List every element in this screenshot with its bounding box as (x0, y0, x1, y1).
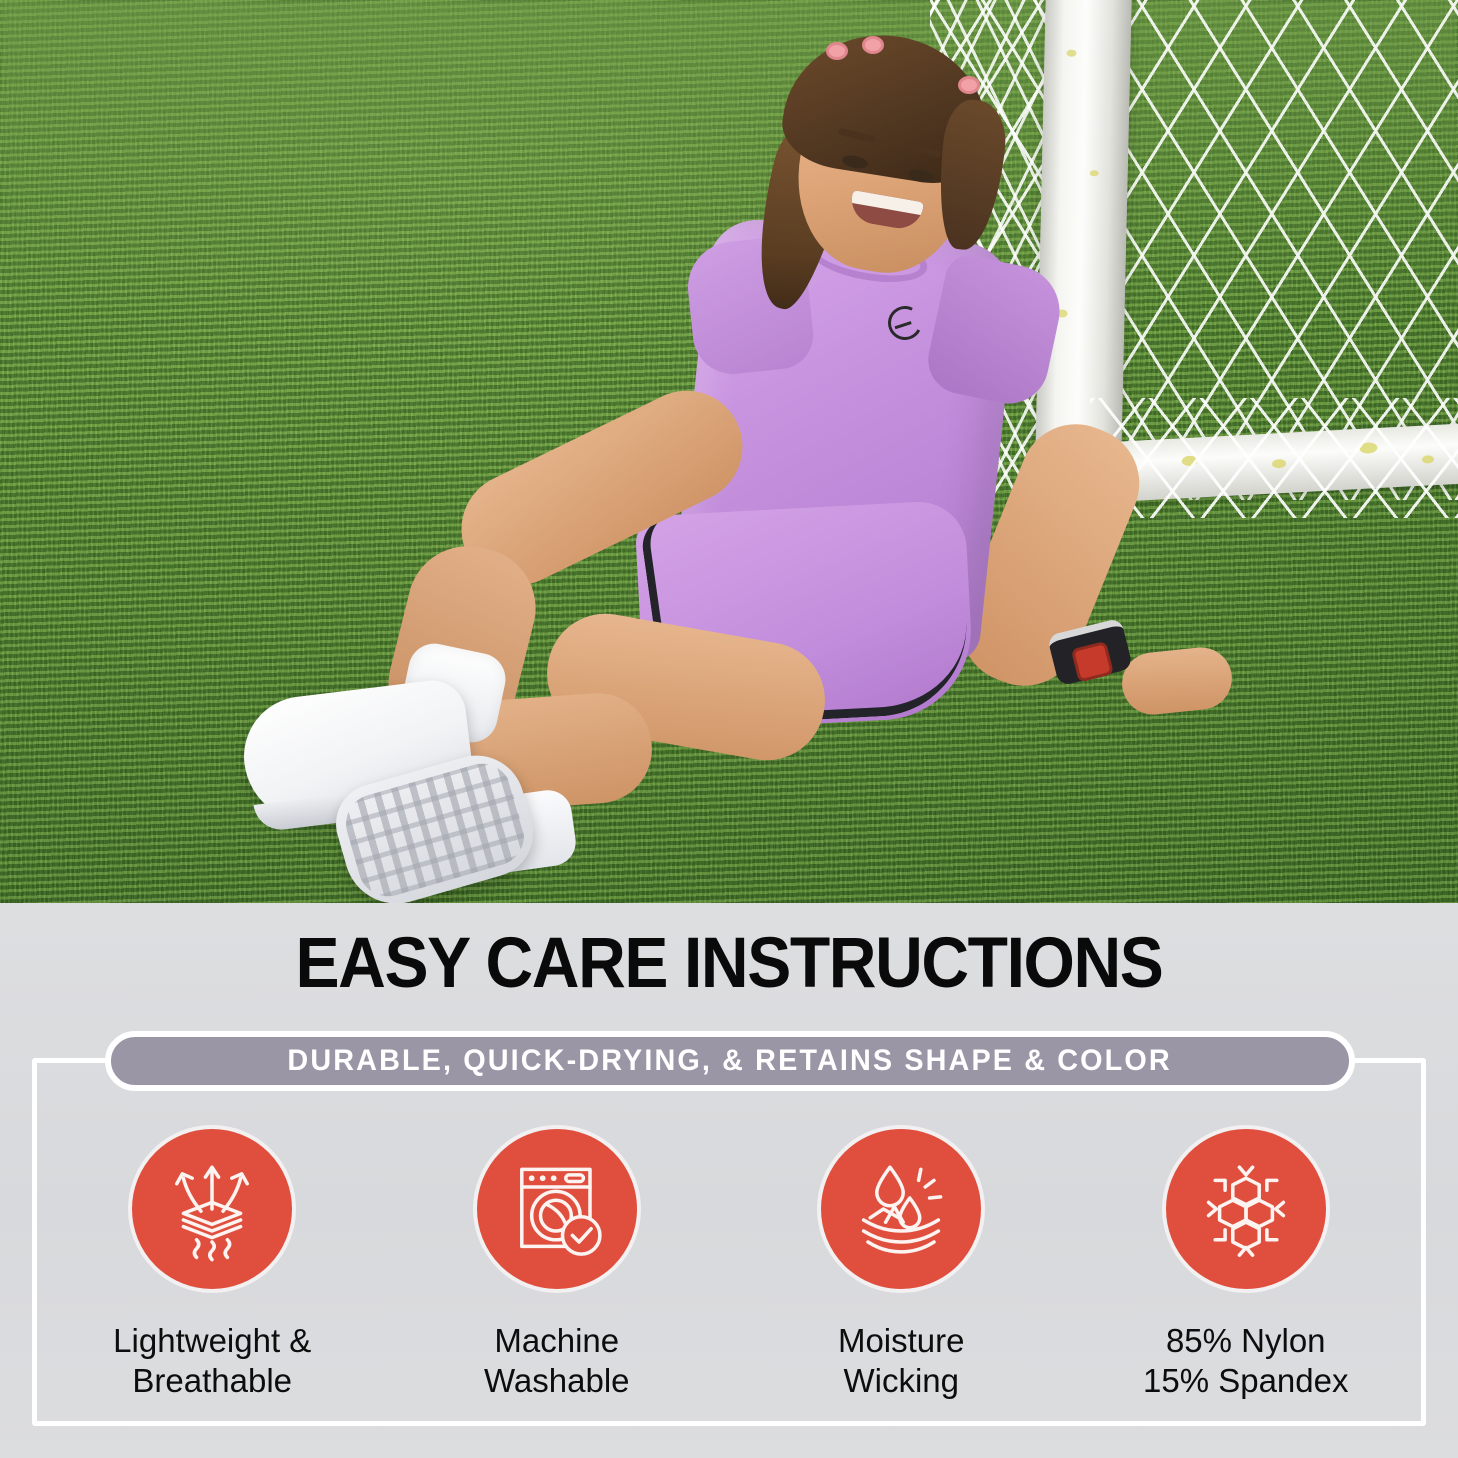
hair-tie-left-icon (826, 42, 848, 60)
honeycomb-fiber-icon (1191, 1154, 1301, 1264)
feature-caption: 85% Nylon 15% Spandex (1143, 1321, 1349, 1402)
feature-machine-washable: Machine Washable (392, 1125, 722, 1402)
caption-line-2: 15% Spandex (1143, 1361, 1349, 1401)
moisture-droplet-fabric-icon (846, 1154, 956, 1264)
model-figure (0, 0, 1458, 903)
badge-circle (128, 1125, 296, 1293)
feature-moisture-wicking: Moisture Wicking (736, 1125, 1066, 1402)
badge-circle (1162, 1125, 1330, 1293)
caption-line-2: Washable (484, 1361, 630, 1401)
hair-tie-mid-icon (862, 36, 884, 54)
washing-machine-icon (502, 1154, 612, 1264)
caption-line-1: Machine (484, 1321, 630, 1361)
feature-caption: Moisture Wicking (838, 1321, 965, 1402)
hair-tie-right-icon (958, 76, 980, 94)
subtitle-pill: DURABLE, QUICK-DRYING, & RETAINS SHAPE &… (105, 1031, 1355, 1091)
feature-caption: Lightweight & Breathable (113, 1321, 311, 1402)
product-photo (0, 0, 1458, 903)
breathable-fabric-layers-icon (157, 1154, 267, 1264)
caption-line-1: Lightweight & (113, 1321, 311, 1361)
caption-line-2: Breathable (113, 1361, 311, 1401)
feature-fabric-composition: 85% Nylon 15% Spandex (1081, 1125, 1411, 1402)
right-hand (1119, 644, 1235, 717)
caption-line-2: Wicking (838, 1361, 965, 1401)
feature-row: Lightweight & Breathable (40, 1125, 1418, 1402)
feature-caption: Machine Washable (484, 1321, 630, 1402)
product-infographic: EASY CARE INSTRUCTIONS DURABLE, QUICK-DR… (0, 0, 1458, 1458)
badge-circle (473, 1125, 641, 1293)
caption-line-1: Moisture (838, 1321, 965, 1361)
page-title: EASY CARE INSTRUCTIONS (51, 923, 1407, 1004)
feature-lightweight-breathable: Lightweight & Breathable (47, 1125, 377, 1402)
care-instructions-panel: EASY CARE INSTRUCTIONS DURABLE, QUICK-DR… (0, 903, 1458, 1458)
subtitle-text: DURABLE, QUICK-DRYING, & RETAINS SHAPE &… (288, 1044, 1172, 1078)
caption-line-1: 85% Nylon (1143, 1321, 1349, 1361)
badge-circle (817, 1125, 985, 1293)
